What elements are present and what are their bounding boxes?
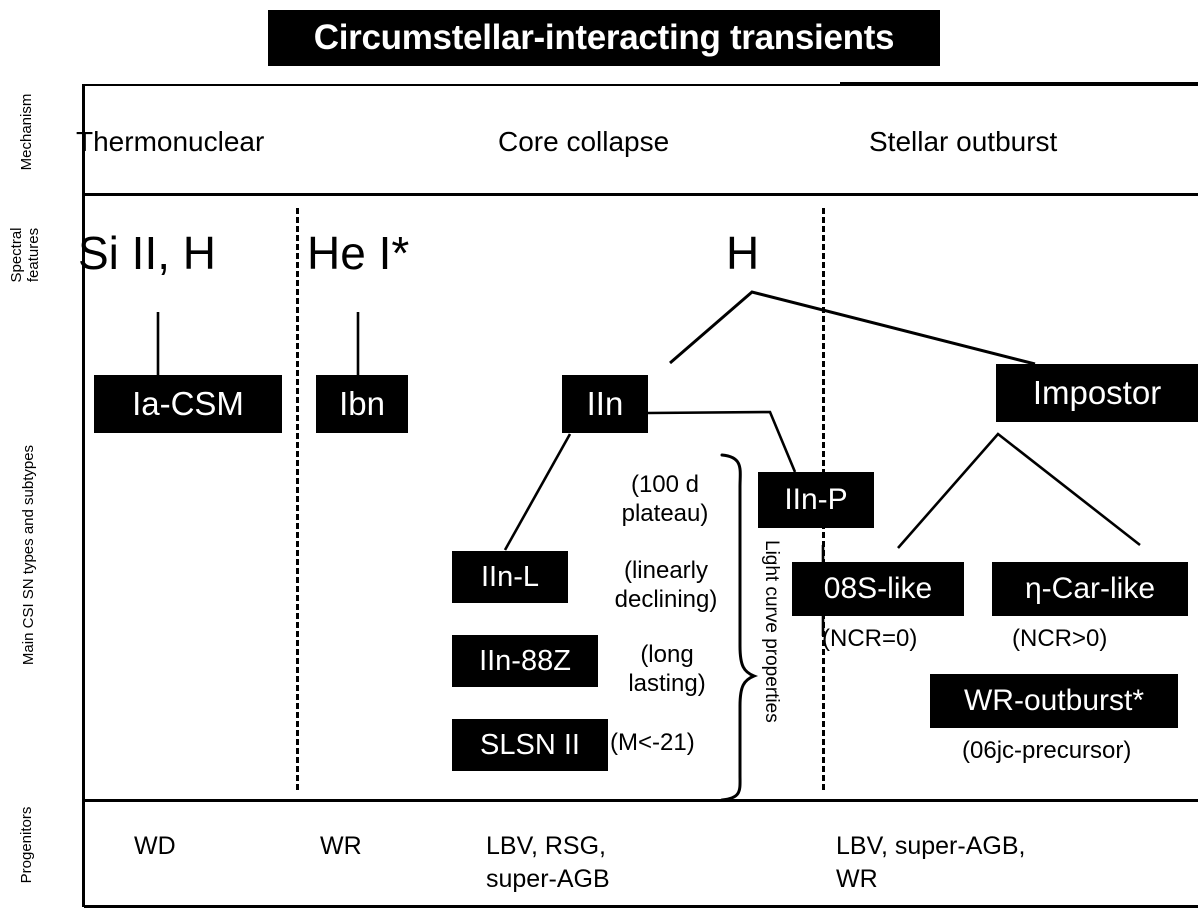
annotation-ncr-positive: (NCR>0) <box>1012 624 1107 653</box>
spectral-h: H <box>726 226 759 280</box>
annotation-plateau: (100 d plateau) <box>600 470 730 528</box>
mechanism-stellar-outburst: Stellar outburst <box>869 126 1057 158</box>
rule-top-thick <box>840 82 1198 86</box>
box-08s-like[interactable]: 08S-like <box>792 562 964 616</box>
box-iin[interactable]: IIn <box>562 375 648 433</box>
box-ibn[interactable]: Ibn <box>316 375 408 433</box>
row-label-mechanism: Mechanism <box>18 82 35 182</box>
annotation-long-lasting: (long lasting) <box>608 640 726 698</box>
row-label-progenitors: Progenitors <box>18 790 35 900</box>
annotation-light-curve-properties: Light curve properties <box>760 540 782 723</box>
spectral-si2-h: Si II, H <box>78 226 216 280</box>
rule-bottom <box>84 905 1198 908</box>
box-eta-car-like[interactable]: η-Car-like <box>992 562 1188 616</box>
diagram-title: Circumstellar-interacting transients <box>268 10 940 66</box>
box-iin-l[interactable]: IIn-L <box>452 551 568 603</box>
row-label-spectral-features: Spectral features <box>8 200 42 310</box>
spectral-he1: He I* <box>307 226 409 280</box>
box-ia-csm[interactable]: Ia-CSM <box>94 375 282 433</box>
row-label-main-types: Main CSI SN types and subtypes <box>20 325 37 785</box>
box-slsn-ii[interactable]: SLSN II <box>452 719 608 771</box>
annotation-06jc-precursor: (06jc-precursor) <box>962 736 1131 765</box>
box-iin-p[interactable]: IIn-P <box>758 472 874 528</box>
box-impostor[interactable]: Impostor <box>996 364 1198 422</box>
box-wr-outburst[interactable]: WR-outburst* <box>930 674 1178 728</box>
progenitor-wr: WR <box>320 830 362 863</box>
mechanism-core-collapse: Core collapse <box>498 126 669 158</box>
progenitor-wd: WD <box>134 830 176 863</box>
annotation-ncr-zero: (NCR=0) <box>822 624 917 653</box>
rule-mechanism-bottom <box>84 193 1198 196</box>
rule-top-thin <box>84 84 840 86</box>
rule-left-main <box>82 196 85 802</box>
annotation-linearly-declining: (linearly declining) <box>598 556 734 614</box>
rule-left-progenitors <box>82 802 85 907</box>
mechanism-thermonuclear: Thermonuclear <box>76 126 264 158</box>
rule-progenitors-top <box>84 799 1198 802</box>
column-divider-left <box>296 208 299 790</box>
box-iin-88z[interactable]: IIn-88Z <box>452 635 598 687</box>
progenitor-core-collapse: LBV, RSG, super-AGB <box>486 830 610 896</box>
annotation-magnitude: (M<-21) <box>610 728 695 757</box>
diagram-canvas: Circumstellar-interacting transients Mec… <box>0 0 1200 914</box>
progenitor-stellar-outburst: LBV, super-AGB, WR <box>836 830 1025 896</box>
